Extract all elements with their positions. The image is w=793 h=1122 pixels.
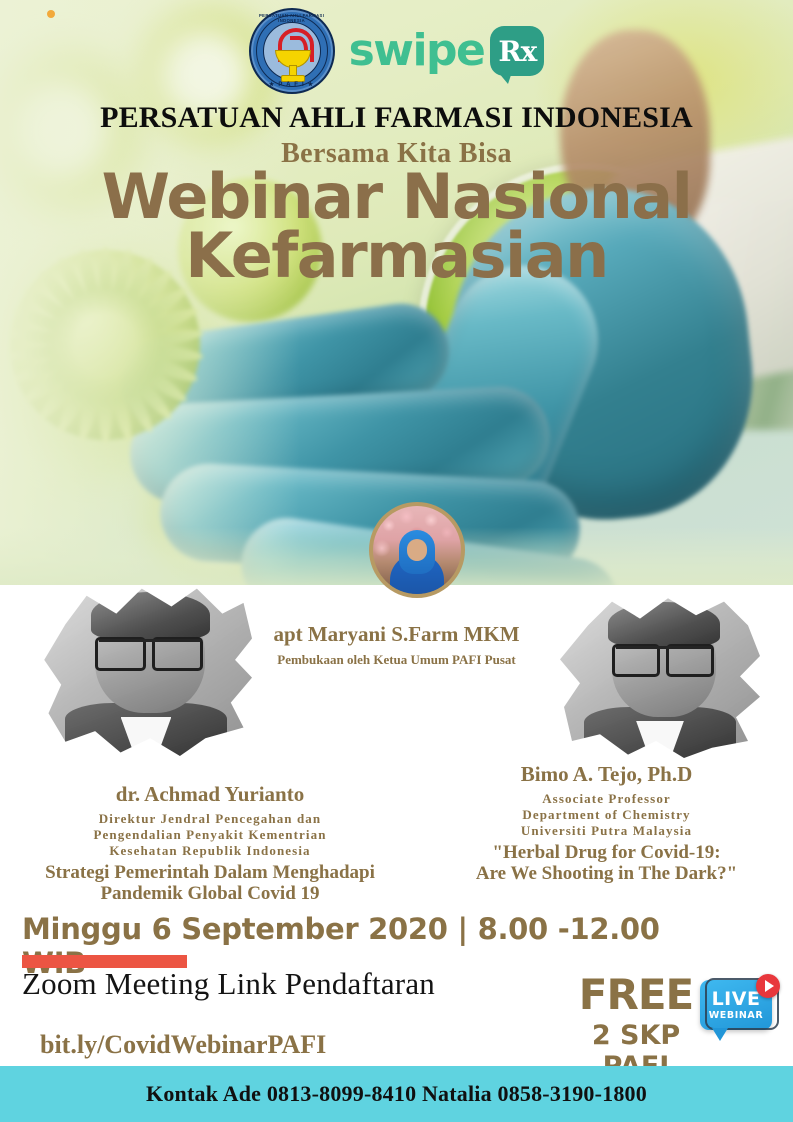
speaker-affiliation-left-line1: Direktur Jendral Pencegahan dan: [0, 811, 420, 827]
play-icon: [756, 974, 780, 998]
page-title-line2: Kefarmasian: [0, 227, 793, 286]
registration-label: Zoom Meeting Link Pendaftaran: [22, 966, 582, 1002]
pafi-logo-icon: PERSATUAN AHLI FARMASI INDONESIA ★ P A F…: [249, 8, 335, 94]
speaker-block-right: Bimo A. Tejo, Ph.D Associate Professor D…: [420, 762, 793, 884]
logo-row: PERSATUAN AHLI FARMASI INDONESIA ★ P A F…: [0, 8, 793, 94]
swiperx-logo-icon: swipe Rx: [349, 26, 545, 76]
speaker-photo-center: [369, 502, 465, 598]
speaker-topic-left: Strategi Pemerintah Dalam Menghadapi Pan…: [0, 862, 420, 905]
contact-text: Kontak Ade 0813-8099-8410 Natalia 0858-3…: [146, 1081, 647, 1107]
swipe-wordmark: swipe: [349, 29, 485, 73]
speaker-topic-right-line2: Are We Shooting in The Dark?": [420, 863, 793, 884]
speaker-affiliation-right: Associate Professor Department of Chemis…: [420, 791, 793, 839]
speaker-name-right: Bimo A. Tejo, Ph.D: [420, 762, 793, 787]
speaker-topic-right: "Herbal Drug for Covid-19: Are We Shooti…: [420, 842, 793, 885]
price-label: FREE: [556, 970, 716, 1019]
speaker-affiliation-right-line2: Department of Chemistry: [420, 807, 793, 823]
pafi-logo-ring-text: PERSATUAN AHLI FARMASI INDONESIA: [251, 13, 333, 23]
page-title: Webinar Nasional Kefarmasian: [0, 168, 793, 286]
speaker-affiliation-left: Direktur Jendral Pencegahan dan Pengenda…: [0, 811, 420, 859]
speaker-topic-left-line1: Strategi Pemerintah Dalam Menghadapi: [0, 862, 420, 883]
registration-link[interactable]: bit.ly/CovidWebinarPAFI: [40, 1030, 560, 1060]
speaker-name-center: apt Maryani S.Farm MKM: [0, 622, 793, 647]
avatar: [373, 506, 461, 594]
speaker-affiliation-left-line3: Kesehatan Republik Indonesia: [0, 843, 420, 859]
organization-name: PERSATUAN AHLI FARMASI INDONESIA: [0, 101, 793, 135]
speaker-block-left: dr. Achmad Yurianto Direktur Jendral Pen…: [0, 782, 420, 904]
speaker-affiliation-right-line3: Universiti Putra Malaysia: [420, 823, 793, 839]
webinar-poster: PERSATUAN AHLI FARMASI INDONESIA ★ P A F…: [0, 0, 793, 1122]
speaker-role-center: Pembukaan oleh Ketua Umum PAFI Pusat: [0, 652, 793, 668]
pafi-logo-bottom-text: ★ P A F I ★: [251, 81, 333, 88]
live-badge-webinar-text: WEBINAR: [700, 1010, 772, 1021]
swipe-dot-icon: [47, 10, 55, 18]
speaker-affiliation-left-line2: Pengendalian Penyakit Kementrian: [0, 827, 420, 843]
rx-label: Rx: [498, 35, 536, 68]
contact-footer: Kontak Ade 0813-8099-8410 Natalia 0858-3…: [0, 1066, 793, 1122]
speaker-name-left: dr. Achmad Yurianto: [0, 782, 420, 807]
live-webinar-badge: LIVE WEBINAR: [700, 978, 778, 1040]
speaker-affiliation-right-line1: Associate Professor: [420, 791, 793, 807]
rx-bubble-icon: Rx: [490, 26, 544, 76]
speaker-topic-right-line1: "Herbal Drug for Covid-19:: [420, 842, 793, 863]
speaker-topic-left-line2: Pandemik Global Covid 19: [0, 883, 420, 904]
